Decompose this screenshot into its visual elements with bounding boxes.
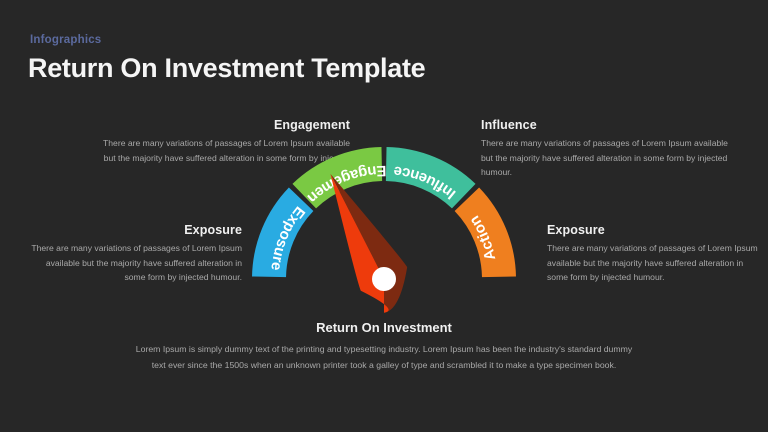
eyebrow-label: Infographics xyxy=(30,34,101,46)
footer-body: Lorem Ipsum is simply dummy text of the … xyxy=(134,341,634,373)
gauge-needle[interactable] xyxy=(330,174,407,313)
callout-influence-heading: Influence xyxy=(481,118,735,132)
callout-exposure-right-heading: Exposure xyxy=(547,223,763,237)
callout-exposure-left-body: There are many variations of passages of… xyxy=(26,241,242,285)
callout-exposure-left: Exposure There are many variations of pa… xyxy=(26,223,242,285)
callout-exposure-right-body: There are many variations of passages of… xyxy=(547,241,763,285)
slide-canvas: Infographics Return On Investment Templa… xyxy=(0,0,768,432)
gauge-svg: Exposure Engagement Influence Action xyxy=(216,148,552,318)
footer-heading: Return On Investment xyxy=(134,320,634,335)
needle-hub xyxy=(372,267,396,291)
gauge-chart: Exposure Engagement Influence Action xyxy=(216,148,552,318)
callout-exposure-left-heading: Exposure xyxy=(26,223,242,237)
page-title: Return On Investment Template xyxy=(28,52,425,84)
footer-block: Return On Investment Lorem Ipsum is simp… xyxy=(134,320,634,373)
callout-exposure-right: Exposure There are many variations of pa… xyxy=(547,223,763,285)
callout-engagement-heading: Engagement xyxy=(96,118,350,132)
